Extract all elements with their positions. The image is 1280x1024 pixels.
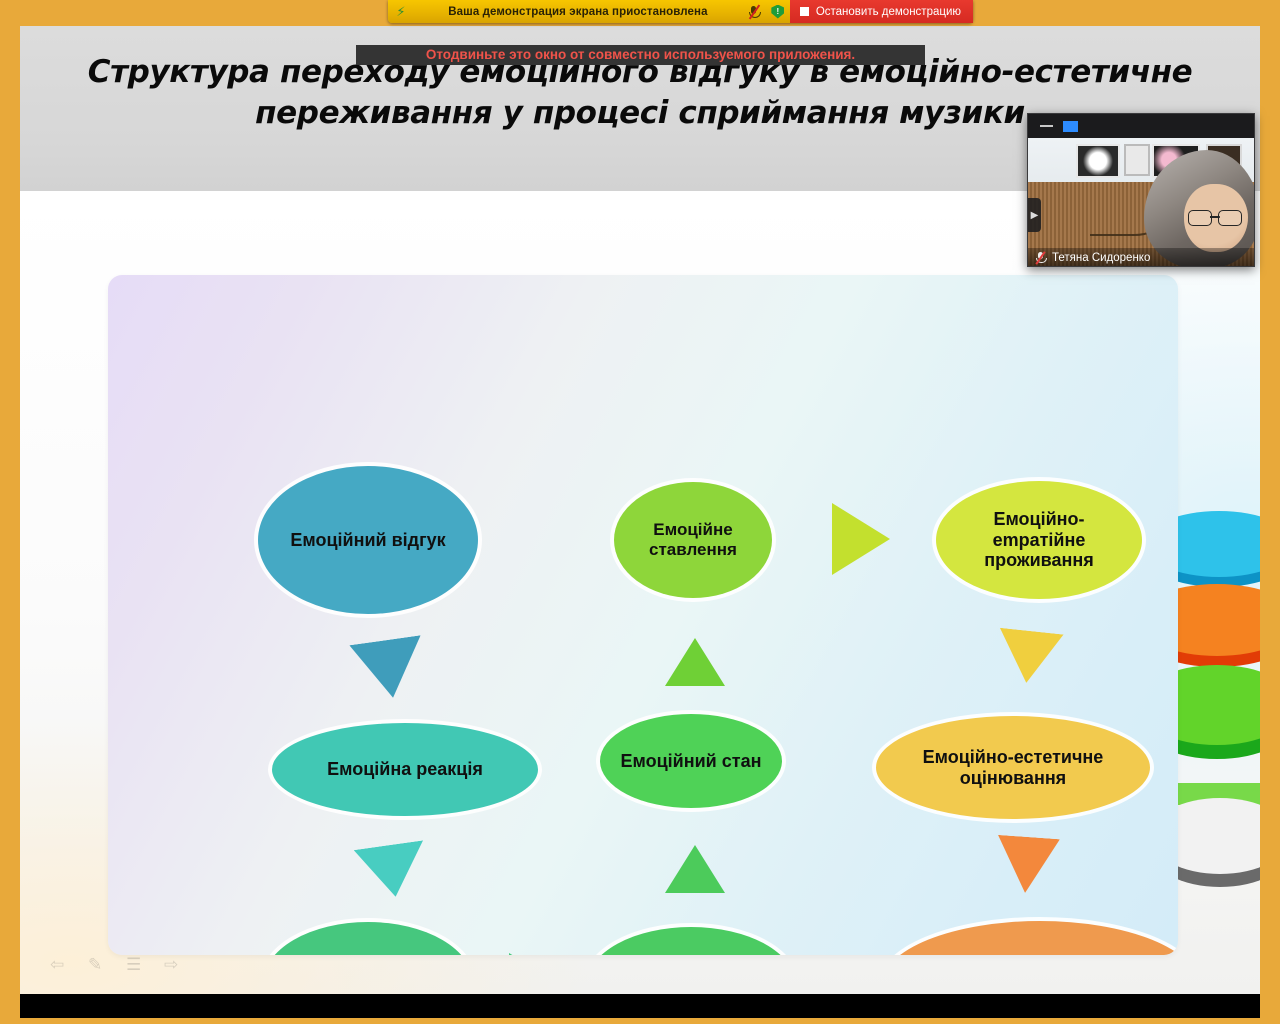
participant-name-bar: Тетяна Сидоренко: [1028, 248, 1255, 267]
bolt-icon: ⚡: [388, 5, 414, 18]
previous-slide-icon[interactable]: ⇦: [50, 956, 72, 974]
pen-icon[interactable]: ✎: [88, 956, 110, 974]
diagram-card: Емоційний відгукЕмоційне ставленняЕмоцій…: [108, 275, 1178, 955]
diagram-node-emotional-aesthetic-exp: Емоційно-естетичне переживання: [882, 921, 1178, 955]
diagram-node-label: Емоційно-empатійне проживання: [948, 509, 1130, 572]
diagram-node-emotional-response: Емоційний відгук: [258, 466, 478, 614]
glasses-icon: [1188, 210, 1242, 224]
diagram-node-emotional-state: Емоційний стан: [600, 714, 782, 808]
diagram-node-need-to-experience: Потреба в переживанні емоцій: [263, 922, 473, 955]
diagram-node-emotional-attitude: Емоційне ставлення: [614, 482, 772, 598]
slideshow-nav-controls[interactable]: ⇦ ✎ ☰ ⇨: [50, 956, 186, 974]
diagram-arrow-reaction-to-need: [354, 840, 431, 901]
stop-share-label: Остановить демонстрацию: [816, 6, 961, 18]
picture-frame-icon: [1076, 144, 1120, 178]
diagram-node-emotional-mood: Емоційний настрій: [587, 927, 795, 955]
diagram-node-label: Емоційно-естетичне оцінювання: [888, 747, 1138, 789]
diagram-node-emotional-empathic-living: Емоційно-empатійне проживання: [936, 481, 1142, 599]
screen-root: Структура переходу емоційного відгуку в …: [0, 0, 1280, 1024]
diagram-node-label: Емоційний відгук: [290, 530, 445, 551]
bottom-black-bar: [20, 994, 1260, 1018]
participant-video-window[interactable]: ▶ Тетяна Сидоренко: [1027, 113, 1255, 267]
diagram-arrow-response-to-reaction: [349, 635, 428, 702]
menu-icon[interactable]: ☰: [126, 956, 148, 974]
video-window-titlebar[interactable]: [1028, 114, 1254, 138]
minimize-icon[interactable]: [1040, 125, 1053, 127]
diagram-arrow-mood-to-state: [665, 845, 725, 893]
diagram-arrow-state-to-attitude: [665, 638, 725, 686]
move-window-warning: Отодвиньте это окно от совместно использ…: [356, 45, 925, 65]
microphone-muted-icon[interactable]: [742, 5, 766, 19]
shield-icon[interactable]: !: [766, 5, 790, 19]
next-slide-icon[interactable]: ⇨: [164, 956, 186, 974]
diagram-node-emotional-reaction: Емоційна реакція: [272, 723, 538, 816]
diagram-node-label: Емоційне ставлення: [626, 520, 760, 559]
stop-share-button[interactable]: Остановить демонстрацию: [790, 0, 973, 23]
video-feed: ▶ Тетяна Сидоренко: [1028, 138, 1255, 267]
share-status-text: Ваша демонстрация экрана приостановлена: [414, 6, 742, 18]
diagram-node-label: Емоційний стан: [621, 751, 762, 772]
slide-body: Емоційний відгукЕмоційне ставленняЕмоцій…: [20, 191, 1260, 994]
diagram-arrow-need-to-mood: [509, 953, 561, 955]
diagram-arrow-empathic-to-eval: [994, 628, 1063, 686]
picture-frame-icon: [1124, 144, 1150, 176]
diagram-node-label: Емоційна реакція: [327, 759, 483, 780]
video-expand-handle[interactable]: ▶: [1028, 198, 1041, 232]
diagram-arrow-attitude-to-empathic: [832, 503, 890, 575]
stop-square-icon: [800, 7, 809, 16]
diagram-node-emotional-aesthetic-eval: Емоційно-естетичне оцінювання: [876, 716, 1150, 819]
microphone-muted-icon: [1035, 252, 1046, 265]
participant-name-label: Тетяна Сидоренко: [1052, 252, 1150, 264]
screen-share-toolbar: ⚡ Ваша демонстрация экрана приостановлен…: [388, 0, 973, 23]
diagram-arrow-eval-to-experience: [994, 835, 1060, 895]
maximize-icon[interactable]: [1063, 121, 1078, 132]
